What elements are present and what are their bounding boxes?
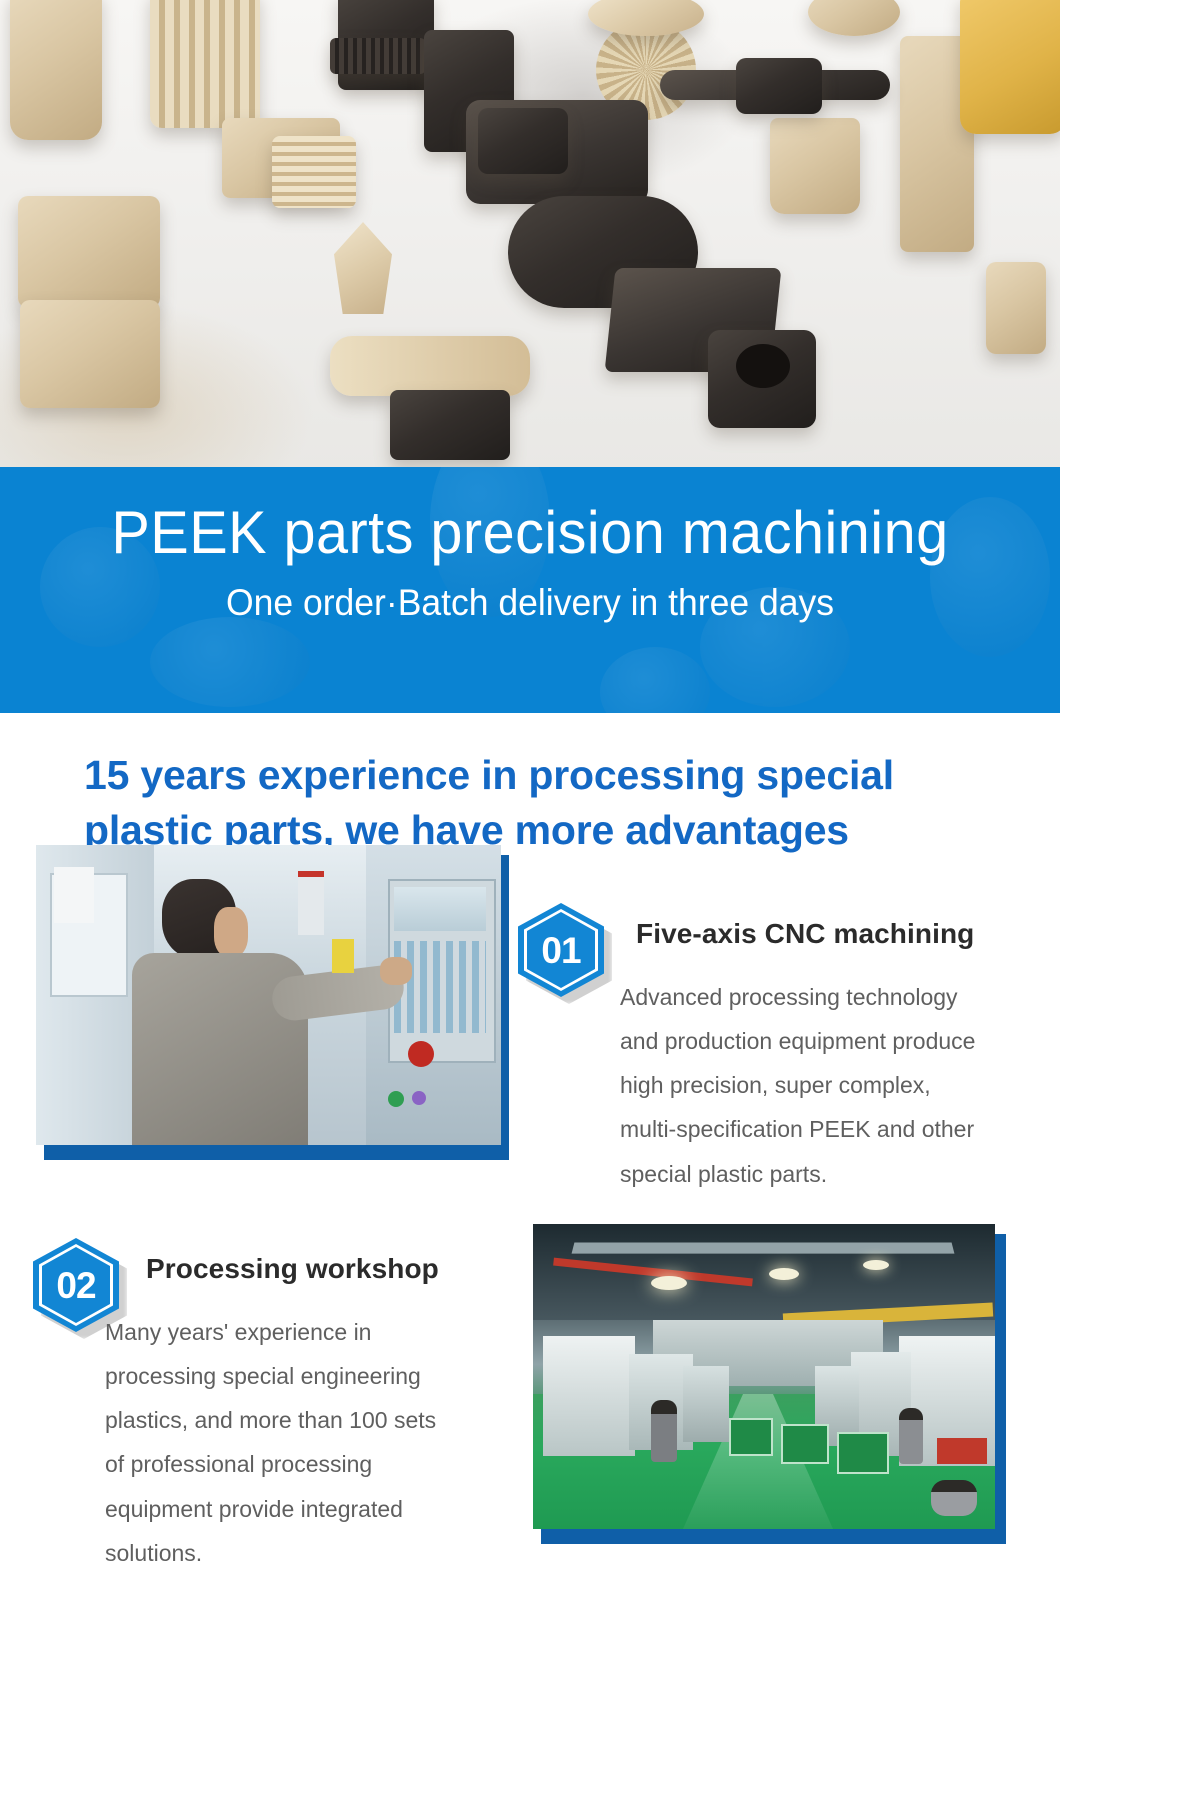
banner-subtitle: One order·Batch delivery in three days: [21, 566, 1039, 624]
workshop-worker-1: [651, 1400, 677, 1462]
section-heading: 15 years experience in processing specia…: [84, 748, 1034, 858]
operator-hand: [380, 957, 412, 985]
banner-title: PEEK parts precision machining: [21, 477, 1039, 566]
cnc-warning-label-red: [298, 871, 324, 935]
feature-02-title: Processing workshop: [146, 1253, 526, 1285]
operator-face: [214, 907, 248, 957]
part-dark-threaded-nipple: [330, 38, 426, 74]
feature-02-body-line-1: Many years' experience in: [105, 1310, 505, 1354]
cnc-panel-display: [394, 887, 486, 931]
workshop-cart-2: [781, 1424, 829, 1464]
cnc-emergency-stop-button: [408, 1041, 434, 1067]
part-beige-threaded-sleeve: [272, 136, 356, 208]
workshop-worker-3: [931, 1480, 977, 1516]
hero-product-photo: [0, 0, 1060, 470]
feature-02-photo-frame: [533, 1224, 998, 1534]
cnc-purple-indicator: [412, 1091, 426, 1105]
feature-02-body: Many years' experience in processing spe…: [105, 1310, 505, 1575]
workshop-light-1: [651, 1276, 687, 1290]
cnc-notice-sheet: [54, 867, 94, 923]
feature-01-body-line-1: Advanced processing technology: [620, 975, 1040, 1019]
part-beige-drilled-bar: [330, 336, 530, 396]
part-beige-bracket: [20, 300, 160, 408]
part-beige-spool: [10, 0, 102, 140]
feature-02-number: 02: [56, 1267, 95, 1304]
hero-banner: PEEK parts precision machining One order…: [0, 467, 1060, 713]
feature-01-body-line-5: special plastic parts.: [620, 1152, 1040, 1196]
part-beige-valve-body: [18, 196, 160, 308]
section-heading-line-1: 15 years experience in processing specia…: [84, 748, 1034, 803]
workshop-light-2: [769, 1268, 799, 1280]
feature-02-body-line-4: of professional processing: [105, 1442, 505, 1486]
feature-02-body-line-2: processing special engineering: [105, 1354, 505, 1398]
feature-02-photo-workshop: [533, 1224, 995, 1529]
workshop-machine-red-panel: [937, 1438, 987, 1464]
feature-01-photo-frame: [36, 845, 501, 1150]
part-dark-roller-drum: [736, 58, 822, 114]
part-beige-bushing-tall: [770, 118, 860, 214]
part-dark-wedge: [390, 390, 510, 460]
banner-text-block: PEEK parts precision machining One order…: [0, 467, 1060, 624]
feature-01-body-line-4: multi-specification PEEK and other: [620, 1107, 1040, 1151]
feature-02-body-line-6: solutions.: [105, 1531, 505, 1575]
part-dark-four-port-block: [478, 108, 568, 174]
part-amber-cup: [960, 0, 1060, 134]
workshop-ceiling-duct: [572, 1242, 955, 1253]
cnc-panel-buttons: [394, 941, 486, 1033]
feature-01-body-line-3: high precision, super complex,: [620, 1063, 1040, 1107]
workshop-machine-left-1: [543, 1336, 635, 1456]
feature-01-photo-cnc-operator: [36, 845, 501, 1145]
workshop-cart-3: [837, 1432, 889, 1474]
feature-01-number-badge: 01: [518, 903, 604, 997]
feature-01-body: Advanced processing technology and produ…: [620, 975, 1040, 1196]
part-dark-hub-bore: [736, 344, 790, 388]
workshop-light-3: [863, 1260, 889, 1270]
part-beige-cage: [150, 0, 260, 128]
feature-02-body-line-3: plastics, and more than 100 sets: [105, 1398, 505, 1442]
cnc-warning-label-yellow: [332, 939, 354, 973]
part-beige-plug: [986, 262, 1046, 354]
workshop-machine-left-3: [683, 1366, 729, 1442]
feature-01-body-line-2: and production equipment produce: [620, 1019, 1040, 1063]
feature-02-body-line-5: equipment provide integrated: [105, 1487, 505, 1531]
workshop-cart-1: [729, 1418, 773, 1456]
cnc-green-indicator: [388, 1091, 404, 1107]
feature-01-number: 01: [541, 932, 580, 969]
feature-01-title: Five-axis CNC machining: [636, 918, 1036, 950]
workshop-worker-2: [899, 1408, 923, 1464]
